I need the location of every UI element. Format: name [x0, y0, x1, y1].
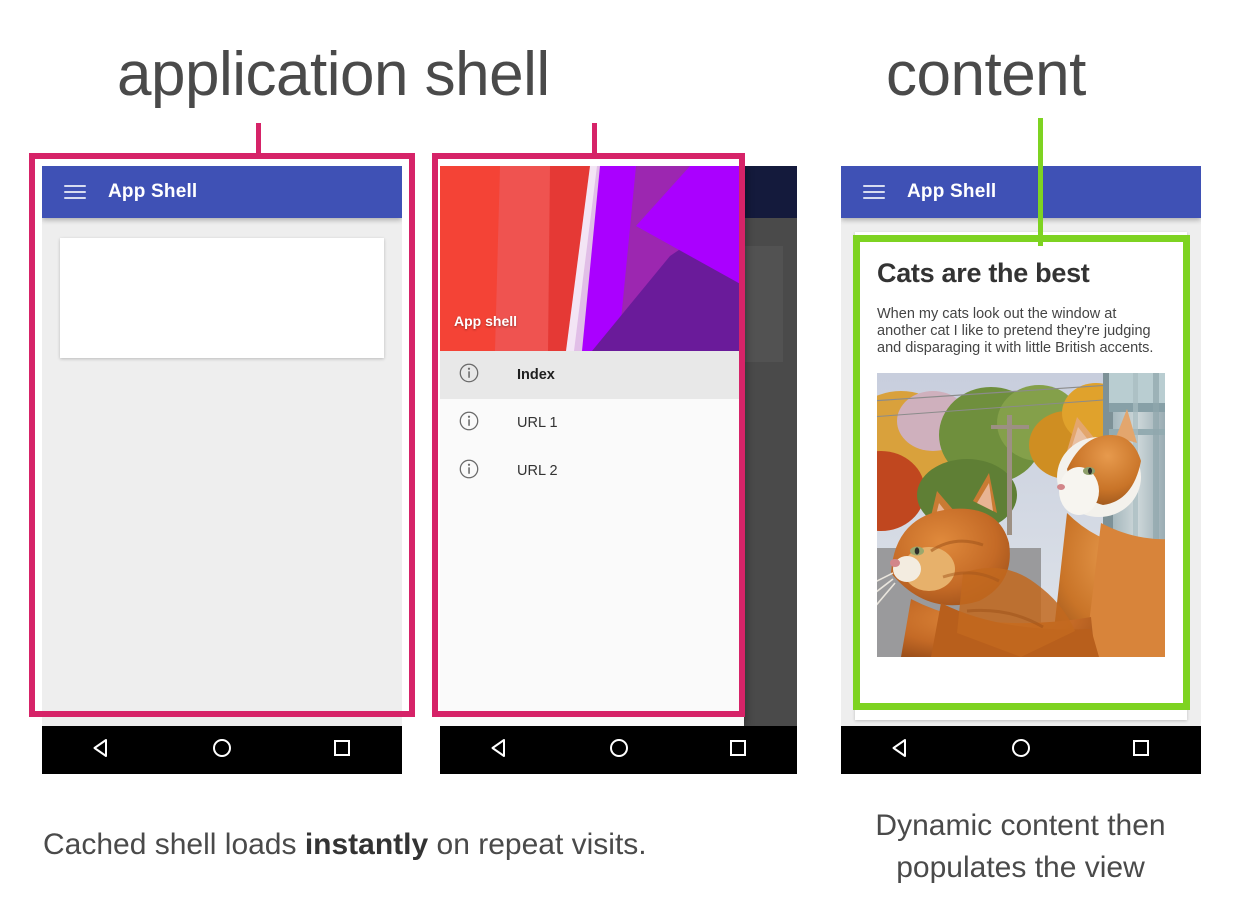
placeholder-card — [60, 238, 384, 358]
caption-right: Dynamic content then populates the view — [838, 805, 1203, 889]
app-bar-title: App Shell — [907, 181, 996, 203]
phone-mockup-shell-empty: App Shell — [42, 166, 402, 774]
info-icon — [458, 458, 480, 485]
caption-left-bold: instantly — [305, 828, 428, 861]
content-area: Cats are the best When my cats look out … — [841, 218, 1201, 726]
home-circle-icon[interactable] — [211, 737, 233, 764]
caption-left-pre: Cached shell loads — [43, 828, 305, 861]
recents-square-icon[interactable] — [1130, 737, 1152, 764]
back-triangle-icon[interactable] — [489, 737, 511, 764]
hamburger-icon[interactable] — [64, 185, 86, 199]
page-title-application-shell: application shell — [117, 44, 550, 106]
recents-square-icon[interactable] — [727, 737, 749, 764]
page-title-content: content — [886, 44, 1086, 106]
info-icon — [458, 410, 480, 437]
caption-left-post: on repeat visits. — [428, 828, 646, 861]
drawer-item-label: Index — [517, 367, 555, 383]
home-circle-icon[interactable] — [1010, 737, 1032, 764]
shell-content-area-empty — [42, 218, 402, 726]
drawer-item-label: URL 1 — [517, 415, 558, 431]
drawer-item-url-2[interactable]: URL 2 — [440, 447, 744, 495]
article-body: When my cats look out the window at anot… — [855, 289, 1187, 357]
phone-mockup-shell-drawer: App shell Index URL 1 — [440, 166, 797, 774]
home-circle-icon[interactable] — [608, 737, 630, 764]
article-image-cats — [877, 373, 1165, 657]
phone-mockup-with-content: App Shell Cats are the best When my cats… — [841, 166, 1201, 774]
drawer-header-label: App shell — [454, 313, 517, 329]
android-navbar-phone1 — [42, 726, 402, 774]
connector-line-shell-right — [592, 123, 597, 159]
connector-line-content — [1038, 118, 1043, 246]
drawer-header-image: App shell — [440, 166, 744, 351]
drawer-item-label: URL 2 — [517, 463, 558, 479]
app-bar-phone3: App Shell — [841, 166, 1201, 218]
connector-line-shell-left — [256, 123, 261, 159]
app-bar-title: App Shell — [108, 181, 197, 203]
app-bar-phone1: App Shell — [42, 166, 402, 218]
back-triangle-icon[interactable] — [91, 737, 113, 764]
article-card: Cats are the best When my cats look out … — [855, 232, 1187, 720]
android-navbar-phone2 — [440, 726, 797, 774]
article-title: Cats are the best — [855, 232, 1187, 289]
caption-left: Cached shell loads instantly on repeat v… — [43, 828, 647, 862]
back-triangle-icon[interactable] — [890, 737, 912, 764]
navigation-drawer: App shell Index URL 1 — [440, 166, 744, 726]
recents-square-icon[interactable] — [331, 737, 353, 764]
drawer-item-url-1[interactable]: URL 1 — [440, 399, 744, 447]
android-navbar-phone3 — [841, 726, 1201, 774]
info-icon — [458, 362, 480, 389]
drawer-item-index[interactable]: Index — [440, 351, 744, 399]
hamburger-icon[interactable] — [863, 185, 885, 199]
